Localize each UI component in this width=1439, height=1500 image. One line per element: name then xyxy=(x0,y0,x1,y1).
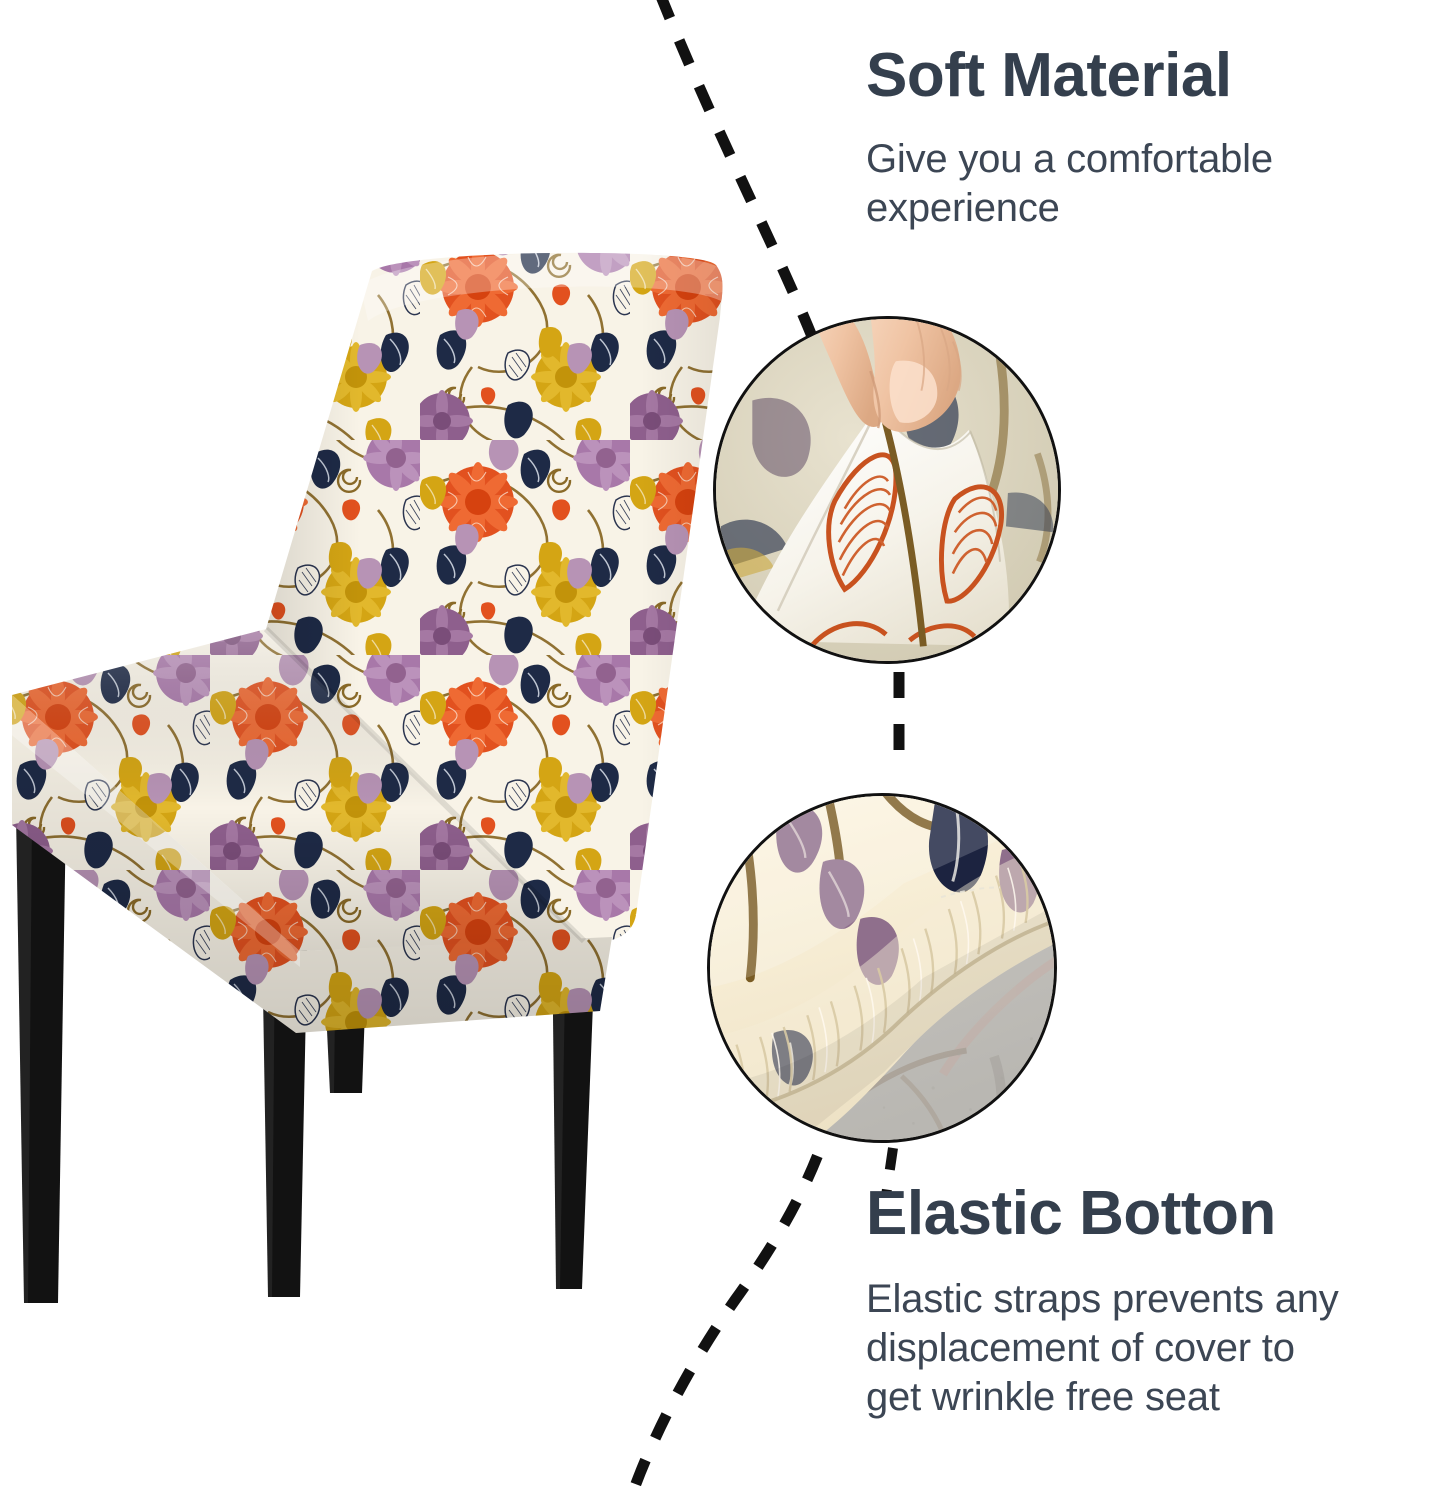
detail-photo-elastic-botton xyxy=(707,793,1057,1143)
elastic-botton-description: Elastic straps prevents any displacement… xyxy=(866,1275,1426,1421)
soft-material-description: Give you a comfortable experience xyxy=(866,135,1386,233)
product-chair-image xyxy=(0,225,740,1315)
elastic-botton-description-line-3: get wrinkle free seat xyxy=(866,1373,1426,1422)
elastic-botton-description-line-1: Elastic straps prevents any xyxy=(866,1275,1426,1324)
elastic-botton-description-line-2: displacement of cover to xyxy=(866,1324,1426,1373)
soft-material-description-line-1: Give you a comfortable xyxy=(866,135,1386,184)
detail-photo-soft-material xyxy=(713,316,1061,664)
elastic-botton-title: Elastic Botton xyxy=(866,1182,1436,1245)
soft-material-photo xyxy=(713,316,1061,664)
soft-material-text-block: Soft Material Give you a comfortable exp… xyxy=(866,44,1426,233)
chair-vector xyxy=(0,225,740,1315)
elastic-botton-photo xyxy=(707,793,1057,1143)
soft-material-title: Soft Material xyxy=(866,44,1426,107)
elastic-botton-text-block: Elastic Botton Elastic straps prevents a… xyxy=(866,1182,1436,1422)
infographic-canvas: Soft Material Give you a comfortable exp… xyxy=(0,0,1439,1500)
soft-material-description-line-2: experience xyxy=(866,184,1386,233)
